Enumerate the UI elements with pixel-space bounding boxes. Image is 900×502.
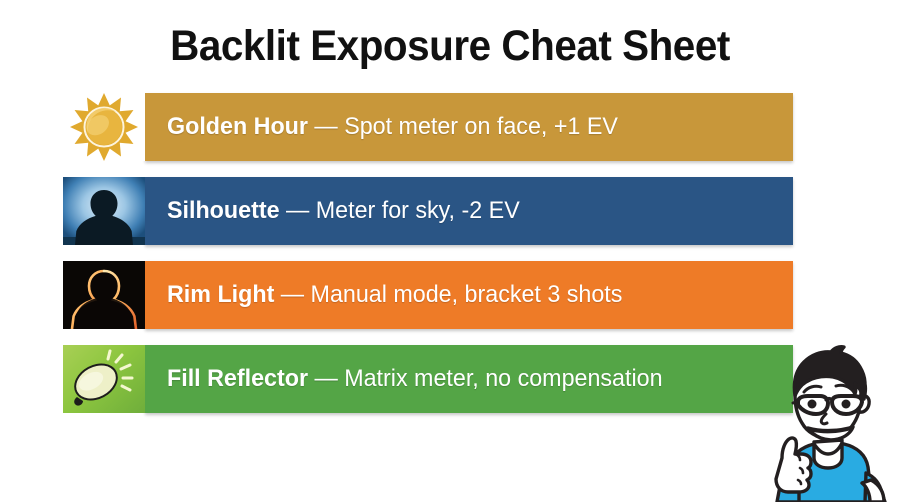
- tip-text-silhouette: Silhouette — Meter for sky, -2 EV: [167, 197, 520, 225]
- tip-row-silhouette[interactable]: Silhouette — Meter for sky, -2 EV: [63, 177, 793, 245]
- tip-bar-silhouette: Silhouette — Meter for sky, -2 EV: [145, 177, 793, 245]
- tip-bar-fill-reflector: Fill Reflector — Matrix meter, no compen…: [145, 345, 793, 413]
- reflector-icon: [63, 345, 145, 413]
- tip-lead-silhouette: Silhouette: [167, 197, 280, 224]
- tip-lead-rim-light: Rim Light: [167, 281, 274, 308]
- tip-desc-rim-light: Manual mode, bracket 3 shots: [311, 281, 623, 308]
- rim-light-portrait-icon: [63, 261, 145, 329]
- cheat-sheet-page: Backlit Exposure Cheat Sheet: [0, 0, 900, 502]
- tip-text-golden-hour: Golden Hour — Spot meter on face, +1 EV: [167, 113, 618, 141]
- tip-separator-silhouette: —: [280, 197, 316, 224]
- tip-desc-silhouette: Meter for sky, -2 EV: [316, 197, 520, 224]
- tip-bar-rim-light: Rim Light — Manual mode, bracket 3 shots: [145, 261, 793, 329]
- sun-icon: [63, 93, 145, 161]
- tip-row-golden-hour[interactable]: Golden Hour — Spot meter on face, +1 EV: [63, 93, 793, 161]
- tip-lead-golden-hour: Golden Hour: [167, 113, 308, 140]
- tip-lead-fill-reflector: Fill Reflector: [167, 365, 308, 392]
- tip-desc-golden-hour: Spot meter on face, +1 EV: [344, 113, 618, 140]
- thumbs-up-character: [738, 330, 898, 502]
- tip-desc-fill-reflector: Matrix meter, no compensation: [344, 365, 662, 392]
- tip-separator-fill-reflector: —: [308, 365, 344, 392]
- silhouette-portrait-icon: [63, 177, 145, 245]
- tip-text-rim-light: Rim Light — Manual mode, bracket 3 shots: [167, 281, 622, 309]
- page-title: Backlit Exposure Cheat Sheet: [27, 22, 873, 71]
- tip-separator-rim-light: —: [274, 281, 310, 308]
- tip-text-fill-reflector: Fill Reflector — Matrix meter, no compen…: [167, 365, 663, 393]
- tip-row-list: Golden Hour — Spot meter on face, +1 EV: [63, 93, 793, 429]
- tip-bar-golden-hour: Golden Hour — Spot meter on face, +1 EV: [145, 93, 793, 161]
- tip-separator-golden-hour: —: [308, 113, 344, 140]
- tip-row-fill-reflector[interactable]: Fill Reflector — Matrix meter, no compen…: [63, 345, 793, 413]
- tip-row-rim-light[interactable]: Rim Light — Manual mode, bracket 3 shots: [63, 261, 793, 329]
